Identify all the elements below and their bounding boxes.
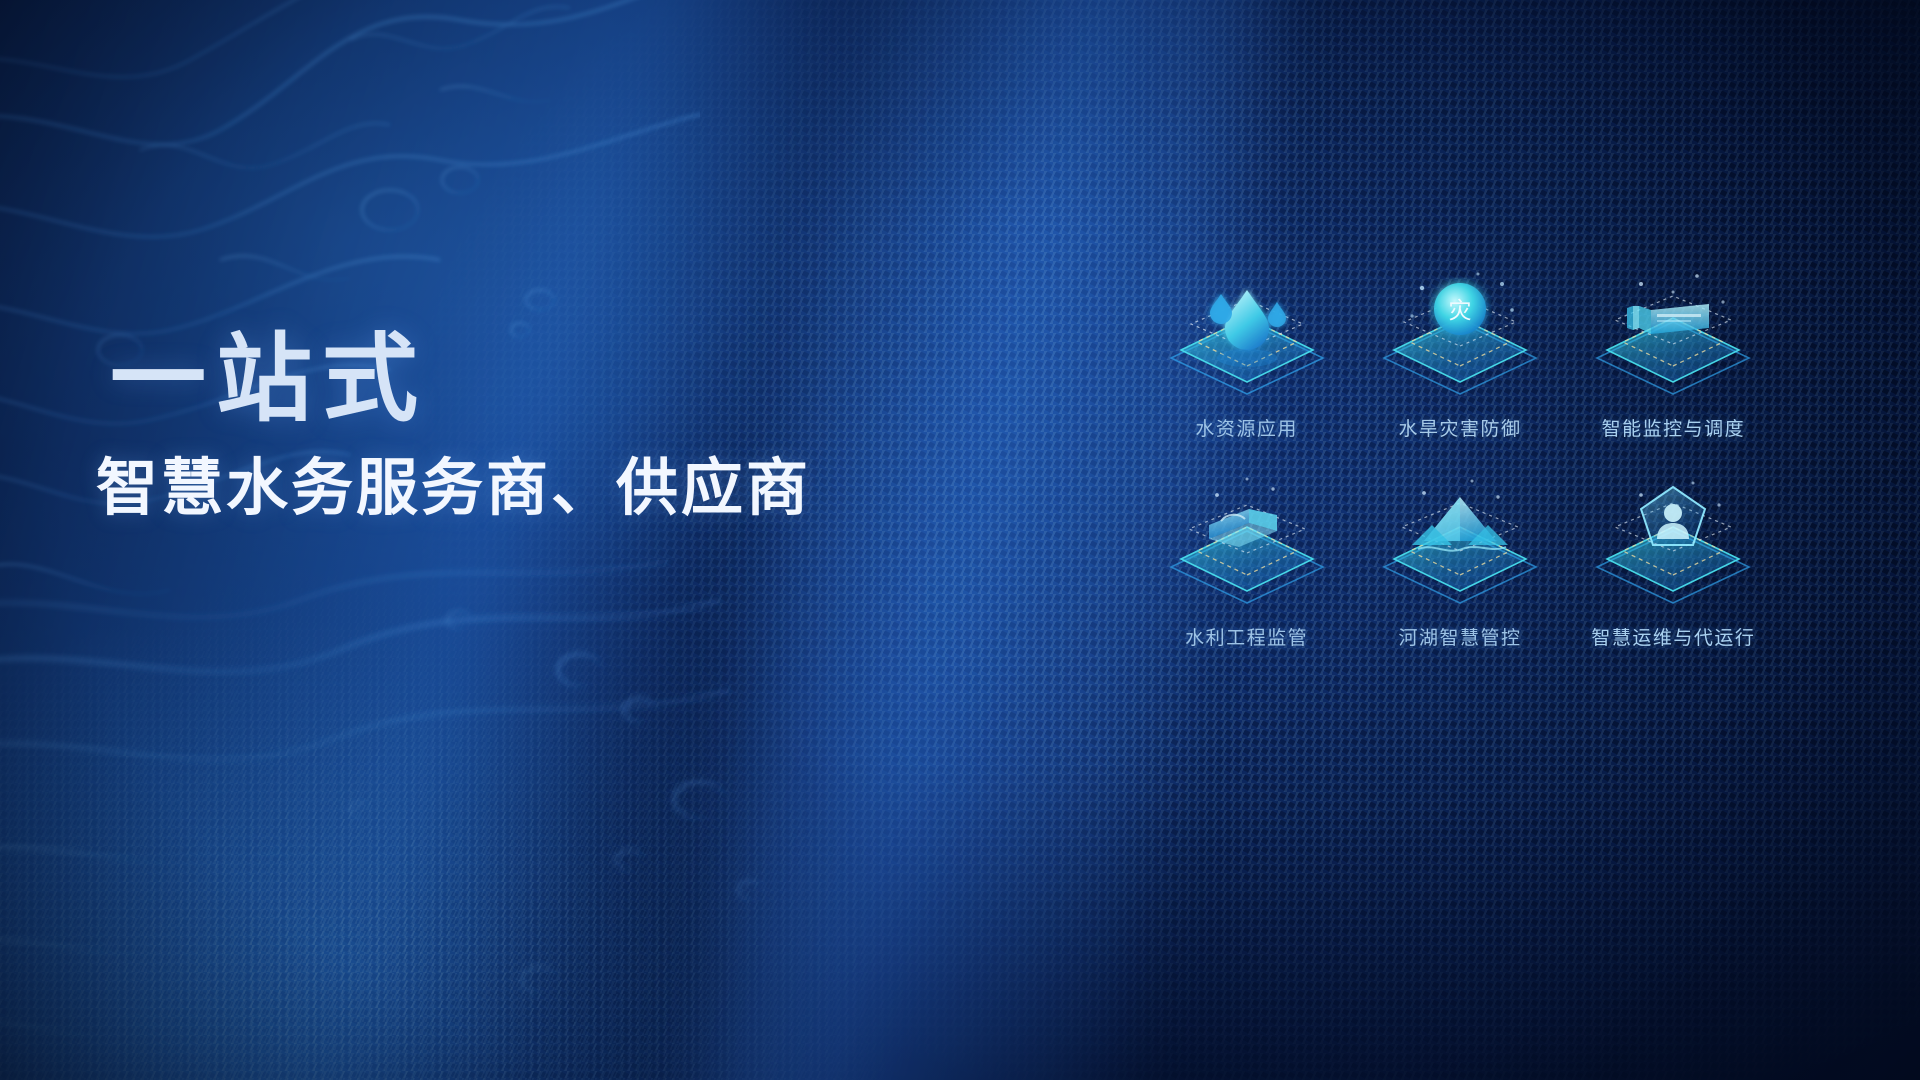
page-subtitle: 智慧水务服务商、供应商 <box>96 453 811 524</box>
reservoir-icon <box>1147 471 1347 621</box>
capability-label: 河湖智慧管控 <box>1398 623 1521 650</box>
capability-card-flood-drought-defense[interactable]: 灾 水旱灾害防御 <box>1353 262 1566 441</box>
slide-canvas: 一站式 智慧水务服务商、供应商 <box>0 0 1920 1080</box>
capability-grid: 水资源应用 <box>1140 262 1780 650</box>
capability-label: 智慧运维与代运行 <box>1591 623 1755 650</box>
capability-label: 水旱灾害防御 <box>1398 414 1521 441</box>
capability-label: 智能监控与调度 <box>1602 414 1746 441</box>
capability-card-hydraulic-project-supervision[interactable]: 水利工程监管 <box>1140 471 1353 650</box>
water-drop-icon <box>1147 262 1347 412</box>
capability-card-water-resource-application[interactable]: 水资源应用 <box>1140 262 1353 441</box>
capability-card-smart-ops-outsourcing[interactable]: 智慧运维与代运行 <box>1567 471 1780 650</box>
disaster-badge-char: 灾 <box>1448 297 1471 323</box>
disaster-sphere-icon: 灾 <box>1360 262 1560 412</box>
headline-block: 一站式 智慧水务服务商、供应商 <box>110 330 811 524</box>
capability-label: 水资源应用 <box>1195 414 1298 441</box>
mountain-river-icon <box>1360 471 1560 621</box>
page-title: 一站式 <box>110 330 811 431</box>
capability-label: 水利工程监管 <box>1185 623 1308 650</box>
capability-card-smart-monitor-dispatch[interactable]: 智能监控与调度 <box>1567 262 1780 441</box>
dam-control-icon <box>1573 262 1773 412</box>
shield-operator-icon <box>1573 471 1773 621</box>
capability-card-river-lake-smart-control[interactable]: 河湖智慧管控 <box>1353 471 1566 650</box>
